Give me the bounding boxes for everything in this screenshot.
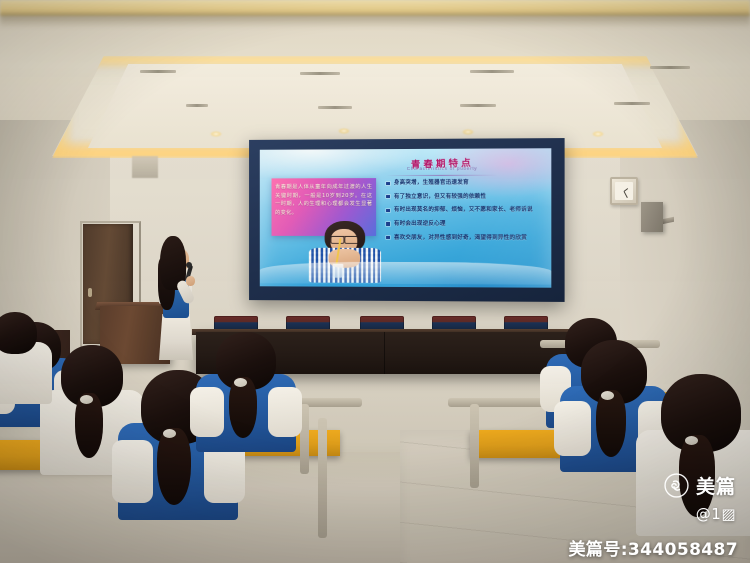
downlight-2 <box>338 128 350 134</box>
slide-paragraph: 青春期是人体从童年向成年过渡的人生关键时期，一般是10岁到20岁。在这一时期，人… <box>275 183 372 217</box>
ceiling-vent-6 <box>318 106 352 109</box>
student-ponytail <box>596 390 626 457</box>
student-head <box>0 312 37 354</box>
wall-clock <box>610 177 638 205</box>
ceiling-vent-1 <box>140 70 176 73</box>
clock-face <box>615 182 633 200</box>
ceiling-vent-4 <box>650 66 690 69</box>
watermark-brand: 美篇 <box>696 472 736 499</box>
projection-screen-bezel: 青春期特点 Characteristics of puberty 青春期是人体从… <box>249 138 565 302</box>
microphone-head-icon <box>186 262 192 268</box>
slide-bullet-text: 身高突增，生殖器官迅速发育 <box>394 179 469 188</box>
slide-bullet-4: 有时会出现逆反心理 <box>387 220 543 228</box>
projection-screen[interactable]: 青春期特点 Characteristics of puberty 青春期是人体从… <box>260 148 552 287</box>
wall-vent <box>132 156 158 178</box>
student-sleeve-right <box>268 387 302 437</box>
slide-bullet-text: 有了独立意识，但又有较强的依赖性 <box>394 193 486 202</box>
ceiling-shadow <box>0 14 750 28</box>
student-center <box>196 332 296 452</box>
downlight-3 <box>462 129 474 135</box>
student-sleeve-left <box>190 387 224 437</box>
teacher-hand <box>186 276 195 286</box>
ceiling-vent-3 <box>470 70 514 73</box>
classroom-photo: 青春期特点 Characteristics of puberty 青春期是人体从… <box>0 0 750 563</box>
slide-bullet-1: 身高突增，生殖器官迅速发育 <box>387 179 543 188</box>
ceiling-vent-8 <box>614 102 650 105</box>
wall-speaker <box>641 202 663 232</box>
ceiling-vent-2 <box>300 72 340 75</box>
slide-subtitle: Characteristics of puberty <box>375 166 510 172</box>
slide-wave-shape <box>260 262 552 285</box>
conference-table-seam <box>384 332 385 374</box>
desk-leg-right <box>470 404 479 488</box>
bullet-marker-icon <box>387 195 390 198</box>
student-sleeve-left <box>112 440 153 503</box>
clock-minute-hand <box>623 191 627 198</box>
bullet-marker-icon <box>387 222 390 225</box>
desk-leg-center-2 <box>318 418 327 538</box>
slide-bullet-2: 有了独立意识，但又有较强的依赖性 <box>387 193 543 202</box>
ceiling-inner-panel <box>88 64 662 148</box>
slide-bullet-list: 身高突增，生殖器官迅速发育有了独立意识，但又有较强的依赖性有时出现莫名的抑郁、烦… <box>387 179 543 247</box>
meipian-knot-icon <box>664 473 689 498</box>
glasses-icon <box>330 236 359 242</box>
teacher-skirt <box>159 314 193 360</box>
slide-bullet-5: 喜欢交朋友，对异性感到好奇，渴望得到异性的欣赏 <box>387 234 543 243</box>
bullet-marker-icon <box>387 182 390 185</box>
slide-bullet-text: 喜欢交朋友，对异性感到好奇，渴望得到异性的欣赏 <box>394 234 527 243</box>
slide-bullet-text: 有时会出现逆反心理 <box>394 220 446 228</box>
door-handle-icon[interactable] <box>88 288 92 297</box>
student-far-left <box>0 312 52 404</box>
student-sleeve-left <box>554 401 591 456</box>
downlight-4 <box>592 131 604 137</box>
slide-bullet-3: 有时出现莫名的抑郁、烦恼，又不愿和家长、老师诉说 <box>387 206 543 215</box>
slide-bullet-text: 有时出现莫名的抑郁、烦恼，又不愿和家长、老师诉说 <box>394 206 533 214</box>
bullet-marker-icon <box>387 209 390 212</box>
watermark-account-id: 美篇号:344058487 <box>569 535 738 560</box>
ceiling-vent-5 <box>186 104 208 107</box>
watermark-username: @1▨ <box>696 505 736 523</box>
ceiling-vent-7 <box>460 104 496 107</box>
hair-scrunchie <box>80 395 93 404</box>
watermark-logo: 美篇 <box>664 472 736 499</box>
bullet-marker-icon <box>387 236 390 239</box>
downlight-1 <box>210 131 222 137</box>
hair-scrunchie <box>601 391 614 400</box>
